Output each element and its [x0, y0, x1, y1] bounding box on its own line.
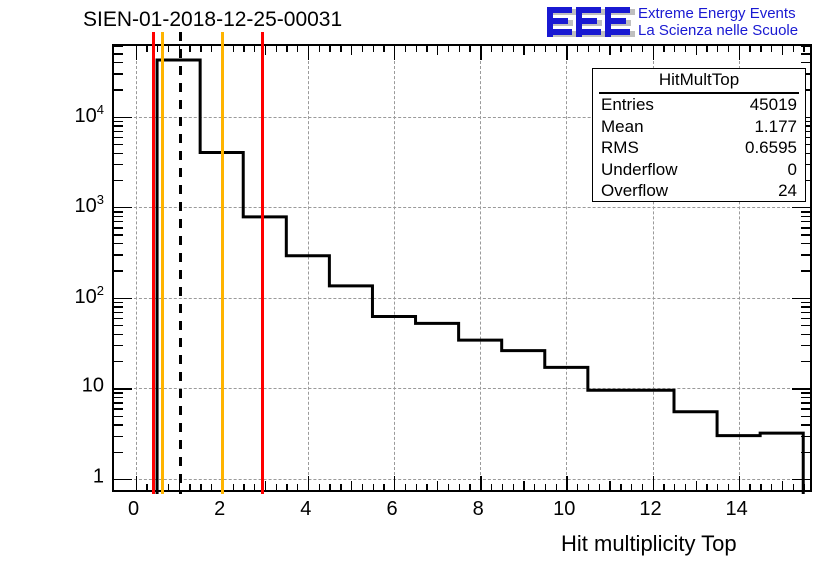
y-axis-tick-label: 10	[82, 375, 104, 398]
root-canvas: SIEN-01-2018-12-25-00031	[0, 0, 836, 572]
red-line-left	[152, 32, 155, 494]
eee-logo: Extreme Energy Events La Scienza nelle S…	[545, 4, 835, 44]
x-axis-tick-label: 4	[300, 498, 311, 521]
stats-row-key: Overflow	[601, 180, 668, 202]
x-axis-tick-label: 6	[386, 498, 397, 521]
eee-logo-mark-icon	[545, 6, 635, 40]
stats-row: Underflow0	[593, 159, 805, 181]
orange-line-left	[161, 32, 164, 494]
red-line-right	[261, 32, 264, 494]
y-axis-tick-label: 104	[75, 102, 104, 128]
stats-row-key: RMS	[601, 137, 639, 159]
stats-row: RMS0.6595	[593, 137, 805, 159]
stats-box-title: HitMultTop	[599, 69, 799, 94]
stats-row-value: 45019	[750, 94, 797, 116]
stats-row-value: 0.6595	[745, 137, 797, 159]
stats-row: Mean1.177	[593, 116, 805, 138]
eee-logo-line1: Extreme Energy Events	[638, 5, 798, 22]
eee-logo-text: Extreme Energy Events La Scienza nelle S…	[638, 5, 798, 39]
stats-row-key: Mean	[601, 116, 644, 138]
y-axis-tick-label: 102	[75, 283, 104, 309]
stats-row-key: Entries	[601, 94, 654, 116]
x-axis-tick-label: 12	[639, 498, 661, 521]
y-axis-tick-label: 103	[75, 192, 104, 218]
stats-row-key: Underflow	[601, 159, 678, 181]
x-axis-tick-label: 0	[128, 498, 139, 521]
stats-row: Entries45019	[593, 94, 805, 116]
eee-logo-line2: La Scienza nelle Scuole	[638, 22, 798, 39]
stats-box: HitMultTop Entries45019Mean1.177RMS0.659…	[592, 68, 806, 202]
mean-line	[179, 32, 182, 494]
stats-row-value: 1.177	[754, 116, 797, 138]
orange-line-right	[221, 32, 224, 494]
x-axis-tick-label: 14	[725, 498, 747, 521]
x-axis-tick-label: 10	[553, 498, 575, 521]
x-axis-title: Hit multiplicity Top	[561, 531, 737, 557]
page-title: SIEN-01-2018-12-25-00031	[83, 8, 342, 32]
stats-box-rows: Entries45019Mean1.177RMS0.6595Underflow0…	[593, 94, 805, 202]
x-axis-tick-label: 2	[214, 498, 225, 521]
stats-row-value: 24	[778, 180, 797, 202]
y-axis-tick-label: 1	[93, 465, 104, 488]
stats-row: Overflow24	[593, 180, 805, 202]
x-axis-tick-label: 8	[473, 498, 484, 521]
stats-row-value: 0	[788, 159, 797, 181]
